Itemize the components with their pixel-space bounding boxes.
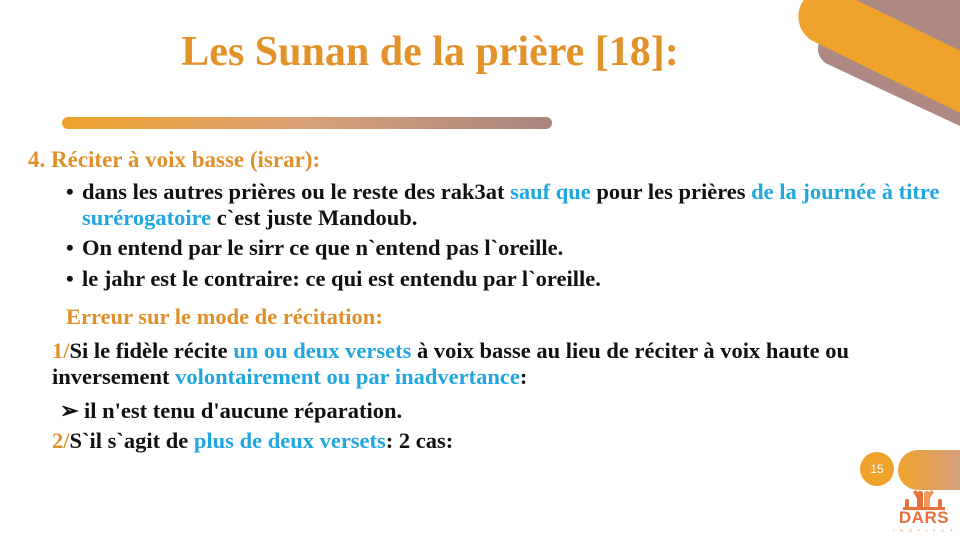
slide-body: 4. Réciter à voix basse (israr): • dans … bbox=[0, 146, 940, 458]
list-item-text: dans les autres prières ou le reste des … bbox=[82, 179, 940, 231]
subsection-heading: Erreur sur le mode de récitation: bbox=[66, 304, 940, 331]
arrow-bullet-icon: ➢ bbox=[60, 398, 84, 424]
case-two-paragraph: 2/S`il s`agit de plus de deux versets: 2… bbox=[52, 428, 912, 454]
bullet-dot-icon: • bbox=[66, 179, 82, 231]
case-one-result-text: il n'est tenu d'aucune réparation. bbox=[84, 398, 402, 424]
text-run: Si le fidèle récite bbox=[70, 338, 234, 363]
text-run: c`est juste Mandoub. bbox=[211, 205, 417, 230]
list-item: • On entend par le sirr ce que n`entend … bbox=[66, 235, 940, 261]
bullet-dot-icon: • bbox=[66, 235, 82, 261]
case-one-marker: 1/ bbox=[52, 338, 70, 363]
dars-logo-mark-icon bbox=[901, 488, 947, 510]
section-heading: 4. Réciter à voix basse (israr): bbox=[28, 146, 940, 173]
highlight-run: plus de deux versets bbox=[194, 428, 386, 453]
text-run: On entend par le sirr ce que n`entend pa… bbox=[82, 235, 563, 260]
highlight-run: volontairement ou par inadvertance bbox=[175, 364, 520, 389]
list-item: • le jahr est le contraire: ce qui est e… bbox=[66, 266, 940, 292]
case-two-marker: 2/ bbox=[52, 428, 70, 453]
dars-logo-subtitle: I N S T I T U T bbox=[893, 528, 955, 533]
slide-canvas: Les Sunan de la prière [18]: 4. Réciter … bbox=[0, 0, 960, 540]
text-run: dans les autres prières ou le reste des … bbox=[82, 179, 510, 204]
highlight-run: un ou deux versets bbox=[233, 338, 411, 363]
title-underline-rule bbox=[62, 117, 552, 129]
decorative-orange-bar bbox=[789, 0, 960, 161]
text-run: : bbox=[520, 364, 528, 389]
text-run: le jahr est le contraire: ce qui est ent… bbox=[82, 266, 601, 291]
text-run: S`il s`agit de bbox=[70, 428, 194, 453]
dars-logo: DARS I N S T I T U T bbox=[893, 488, 955, 538]
slide-title: Les Sunan de la prière [18]: bbox=[0, 28, 860, 76]
list-item-text: On entend par le sirr ce que n`entend pa… bbox=[82, 235, 940, 261]
list-item: • dans les autres prières ou le reste de… bbox=[66, 179, 940, 231]
highlight-run: sauf que bbox=[510, 179, 591, 204]
case-one-result: ➢ il n'est tenu d'aucune réparation. bbox=[60, 398, 940, 424]
list-item-text: le jahr est le contraire: ce qui est ent… bbox=[82, 266, 940, 292]
page-number-badge: 15 bbox=[860, 452, 894, 486]
dars-logo-wordmark: DARS bbox=[899, 509, 949, 526]
text-run: pour les prières bbox=[591, 179, 751, 204]
bullet-dot-icon: • bbox=[66, 266, 82, 292]
text-run: : 2 cas: bbox=[386, 428, 453, 453]
case-one-paragraph: 1/Si le fidèle récite un ou deux versets… bbox=[52, 338, 912, 390]
